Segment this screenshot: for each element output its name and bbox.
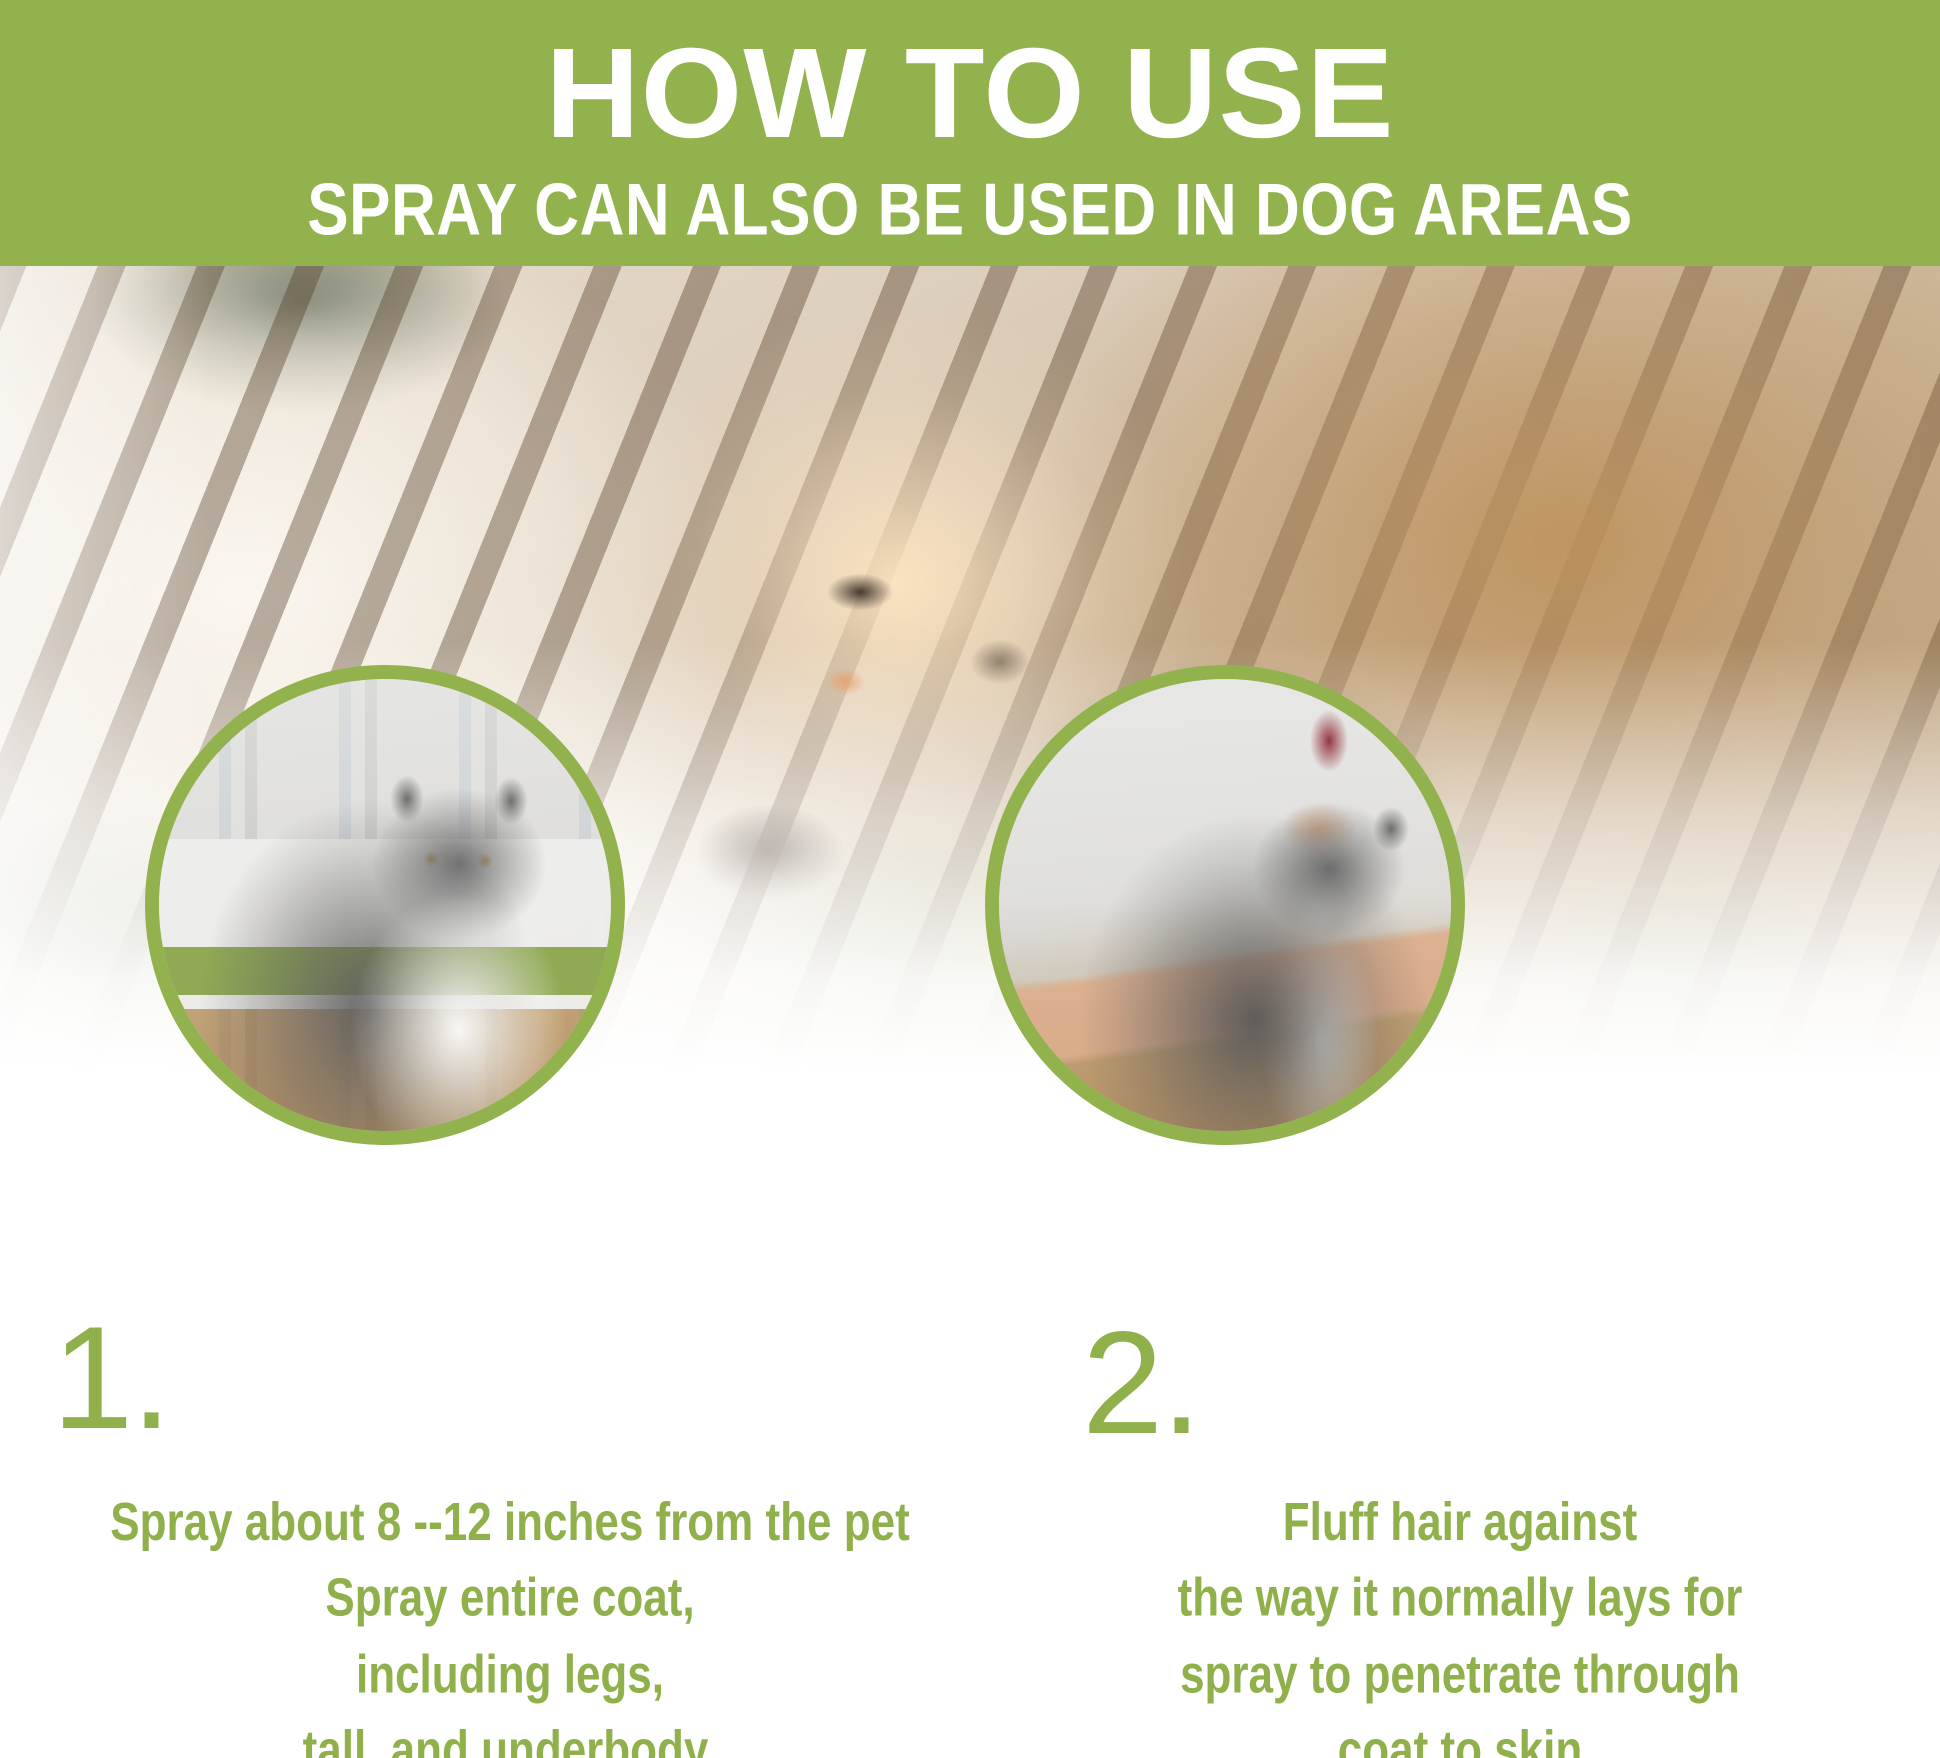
step-1-caption-line-1: Spray about 8 --12 inches from the pet — [60, 1485, 960, 1561]
step-2-photo-circle — [985, 665, 1465, 1145]
page-subtitle: SPRAY CAN ALSO BE USED IN DOG AREAS — [0, 174, 1940, 247]
step-2-caption: Fluff hair against the way it normally l… — [1020, 1485, 1900, 1758]
step-2-caption-line-3: spray to penetrate through — [1020, 1637, 1900, 1713]
step-1-caption-line-2: Spray entire coat, — [60, 1561, 960, 1637]
step-2-caption-line-4: coat to skin — [1020, 1714, 1900, 1758]
step-2-photo-image — [999, 679, 1451, 1131]
step-2-number: 2. — [1082, 1310, 1200, 1456]
step-1-caption-line-3: including legs, — [60, 1637, 960, 1713]
step-1-photo-circle — [145, 665, 625, 1145]
header-band: HOW TO USE SPRAY CAN ALSO BE USED IN DOG… — [0, 0, 1940, 266]
step-1-caption-line-4: tall, and underbody. — [60, 1714, 960, 1758]
step-1-caption: Spray about 8 --12 inches from the pet S… — [60, 1485, 960, 1758]
step-2-caption-line-2: the way it normally lays for — [1020, 1561, 1900, 1637]
how-to-use-poster: HOW TO USE SPRAY CAN ALSO BE USED IN DOG… — [0, 0, 1940, 1758]
step-1-photo-image — [159, 679, 611, 1131]
step-1-number: 1. — [52, 1305, 170, 1451]
step-2-caption-line-1: Fluff hair against — [1020, 1485, 1900, 1561]
page-title: HOW TO USE — [0, 30, 1940, 158]
